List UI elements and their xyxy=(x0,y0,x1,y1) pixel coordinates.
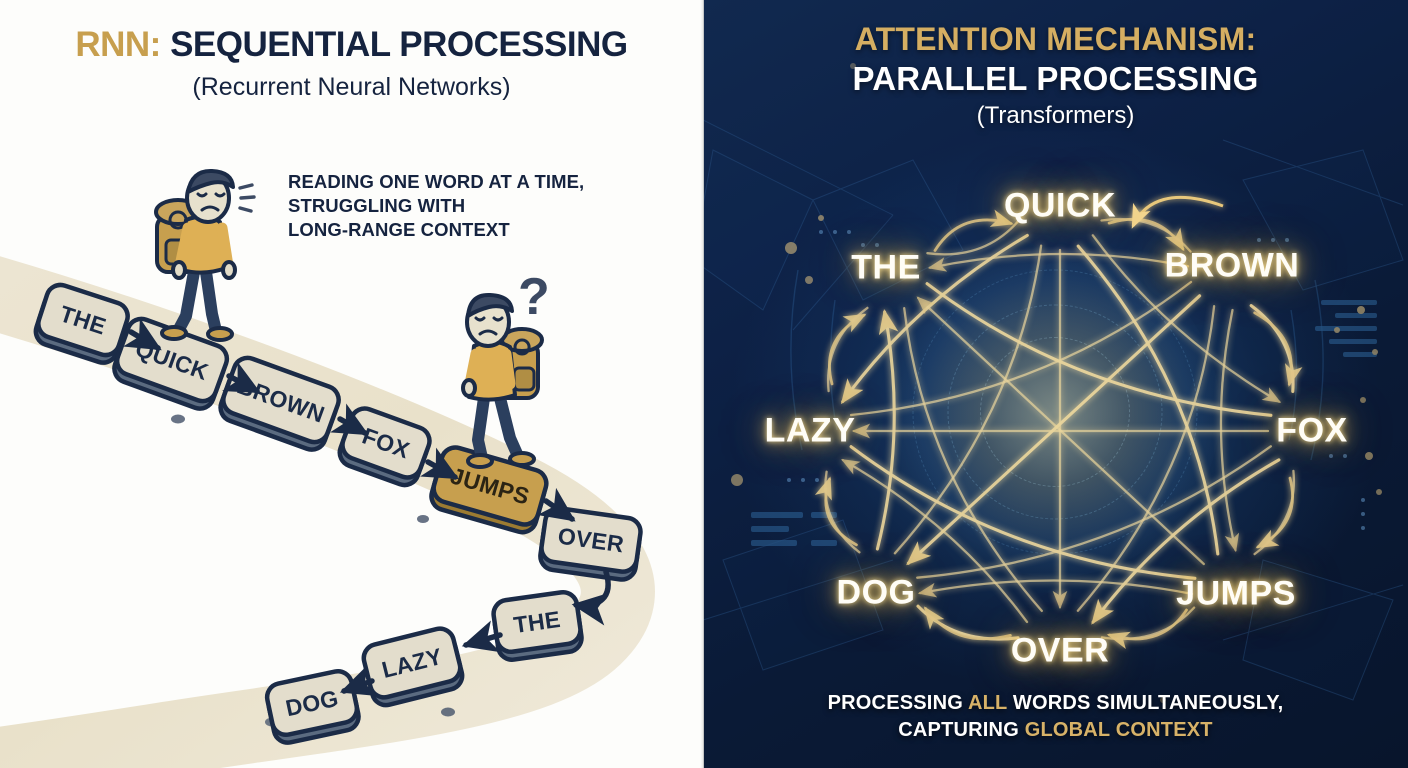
caption-line-2: STRUGGLING WITH xyxy=(288,194,648,218)
left-title-block: RNN: SEQUENTIAL PROCESSING (Recurrent Ne… xyxy=(0,26,703,101)
caption-row-1: PROCESSING ALL WORDS SIMULTANEOUSLY, xyxy=(703,690,1408,717)
panel-divider xyxy=(700,0,704,768)
word-node: QUICK xyxy=(1004,187,1116,226)
caption-line-3: LONG-RANGE CONTEXT xyxy=(288,218,648,242)
tired-hiker-character xyxy=(144,168,264,343)
caption-gold-global: GLOBAL CONTEXT xyxy=(1025,719,1213,741)
attention-ring-arrow xyxy=(1110,610,1187,639)
attention-ring-arrow xyxy=(1109,219,1183,249)
attention-panel: QUICKBROWNFOXJUMPSOVERDOGLAZYTHE ATTENTI… xyxy=(703,0,1408,768)
caption-gold-all: ALL xyxy=(968,692,1007,714)
attention-edge xyxy=(825,472,859,553)
attention-edge xyxy=(1078,306,1214,611)
word-node: DOG xyxy=(837,574,916,613)
word-node: FOX xyxy=(1276,412,1347,451)
page-subtitle: (Recurrent Neural Networks) xyxy=(0,74,703,102)
attention-edge xyxy=(1078,246,1218,554)
title-accent: RNN: xyxy=(75,25,160,64)
attention-edge xyxy=(927,284,1271,416)
attention-edge xyxy=(920,580,1192,593)
title-main: SEQUENTIAL PROCESSING xyxy=(170,25,628,64)
caption-seg-2: WORDS SIMULTANEOUSLY, xyxy=(1007,692,1283,714)
attention-title-line-2: PARALLEL PROCESSING xyxy=(703,60,1408,98)
attention-ring-arrow xyxy=(935,220,1011,251)
attention-edge xyxy=(1255,471,1294,554)
question-mark-glyph: ? xyxy=(518,272,550,326)
attention-ring-arrow xyxy=(826,479,857,545)
word-node: JUMPS xyxy=(1176,575,1296,614)
right-title-block: ATTENTION MECHANISM: PARALLEL PROCESSING… xyxy=(703,22,1408,130)
caption-seg-1: PROCESSING xyxy=(828,692,968,714)
attention-edge xyxy=(851,447,1195,579)
word-node: LAZY xyxy=(765,412,856,451)
word-node: OVER xyxy=(1011,632,1109,671)
attention-subtitle: (Transformers) xyxy=(703,102,1408,130)
confused-hiker-character: ? xyxy=(440,272,570,472)
attention-title-line-1: ATTENTION MECHANISM: xyxy=(703,22,1408,58)
sequence-arrows xyxy=(0,0,703,768)
infographic-canvas: RNN: SEQUENTIAL PROCESSING (Recurrent Ne… xyxy=(0,0,1408,768)
rnn-caption: READING ONE WORD AT A TIME, STRUGGLING W… xyxy=(288,170,648,242)
caption-seg-3: CAPTURING xyxy=(898,719,1024,741)
caption-row-2: CAPTURING GLOBAL CONTEXT xyxy=(703,717,1408,744)
attention-caption: PROCESSING ALL WORDS SIMULTANEOUSLY, CAP… xyxy=(703,690,1408,744)
page-title: RNN: SEQUENTIAL PROCESSING xyxy=(0,26,703,65)
attention-edge xyxy=(908,296,1199,563)
caption-line-1: READING ONE WORD AT A TIME, xyxy=(288,170,648,194)
rnn-panel: RNN: SEQUENTIAL PROCESSING (Recurrent Ne… xyxy=(0,0,703,768)
word-node: THE xyxy=(851,249,921,288)
word-node: BROWN xyxy=(1165,247,1300,286)
attention-edge xyxy=(918,606,1018,639)
